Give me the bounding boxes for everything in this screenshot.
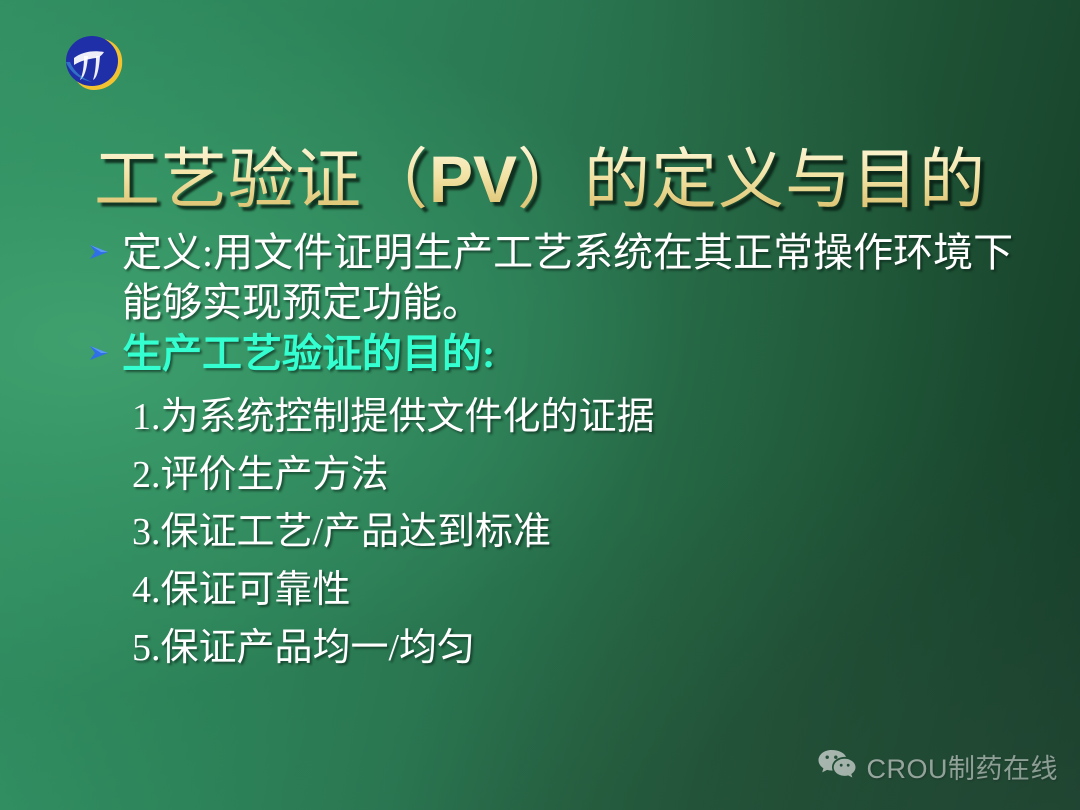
list-item-number: 3. [132,511,161,553]
slide-title-part-2: ）的定义与目的 [517,144,986,217]
list-item-number: 5. [132,627,161,669]
list-item: 4.保证可靠性 [132,562,1034,620]
list-item-label: 评价生产方法 [161,454,389,496]
list-item-label: 保证可靠性 [161,569,351,611]
bullet-text-purpose: 生产工艺验证的目的: [122,329,1034,379]
arrow-bullet-icon [88,329,122,363]
bullet-text-definition: 定义:用文件证明生产工艺系统在其正常操作环境下能够实现预定功能。 [122,228,1034,327]
list-item: 3.保证工艺/产品达到标准 [132,504,1034,562]
list-item-number: 2. [132,454,161,496]
presentation-slide: 工艺验证（PV）的定义与目的 定义:用文件证明生产工艺系统在其正常操作环境下能够… [0,0,1080,810]
list-item-number: 1. [132,396,161,438]
slide-title-pv: PV [429,142,517,216]
purpose-numbered-list: 1.为系统控制提供文件化的证据 2.评价生产方法 3.保证工艺/产品达到标准 4… [132,389,1034,678]
list-item: 1.为系统控制提供文件化的证据 [132,389,1034,447]
wechat-icon [817,748,857,785]
list-item-label: 保证产品均一/均匀 [161,627,476,669]
watermark: CROU制药在线 [817,747,1059,786]
slide-body: 定义:用文件证明生产工艺系统在其正常操作环境下能够实现预定功能。 生产工艺验证的… [88,228,1034,678]
list-item-label: 为系统控制提供文件化的证据 [161,396,655,438]
bullet-item-purpose: 生产工艺验证的目的: [88,329,1034,379]
list-item-label: 保证工艺/产品达到标准 [161,511,552,553]
watermark-label: CROU制药在线 [867,747,1059,786]
company-logo [58,28,130,94]
list-item-number: 4. [132,569,161,611]
slide-title-part-1: 工艺验证（ [94,144,429,217]
arrow-bullet-icon [88,228,122,262]
list-item: 5.保证产品均一/均匀 [132,620,1034,678]
slide-title: 工艺验证（PV）的定义与目的 [0,144,1080,216]
bullet-item-definition: 定义:用文件证明生产工艺系统在其正常操作环境下能够实现预定功能。 [88,228,1034,327]
list-item: 2.评价生产方法 [132,447,1034,505]
